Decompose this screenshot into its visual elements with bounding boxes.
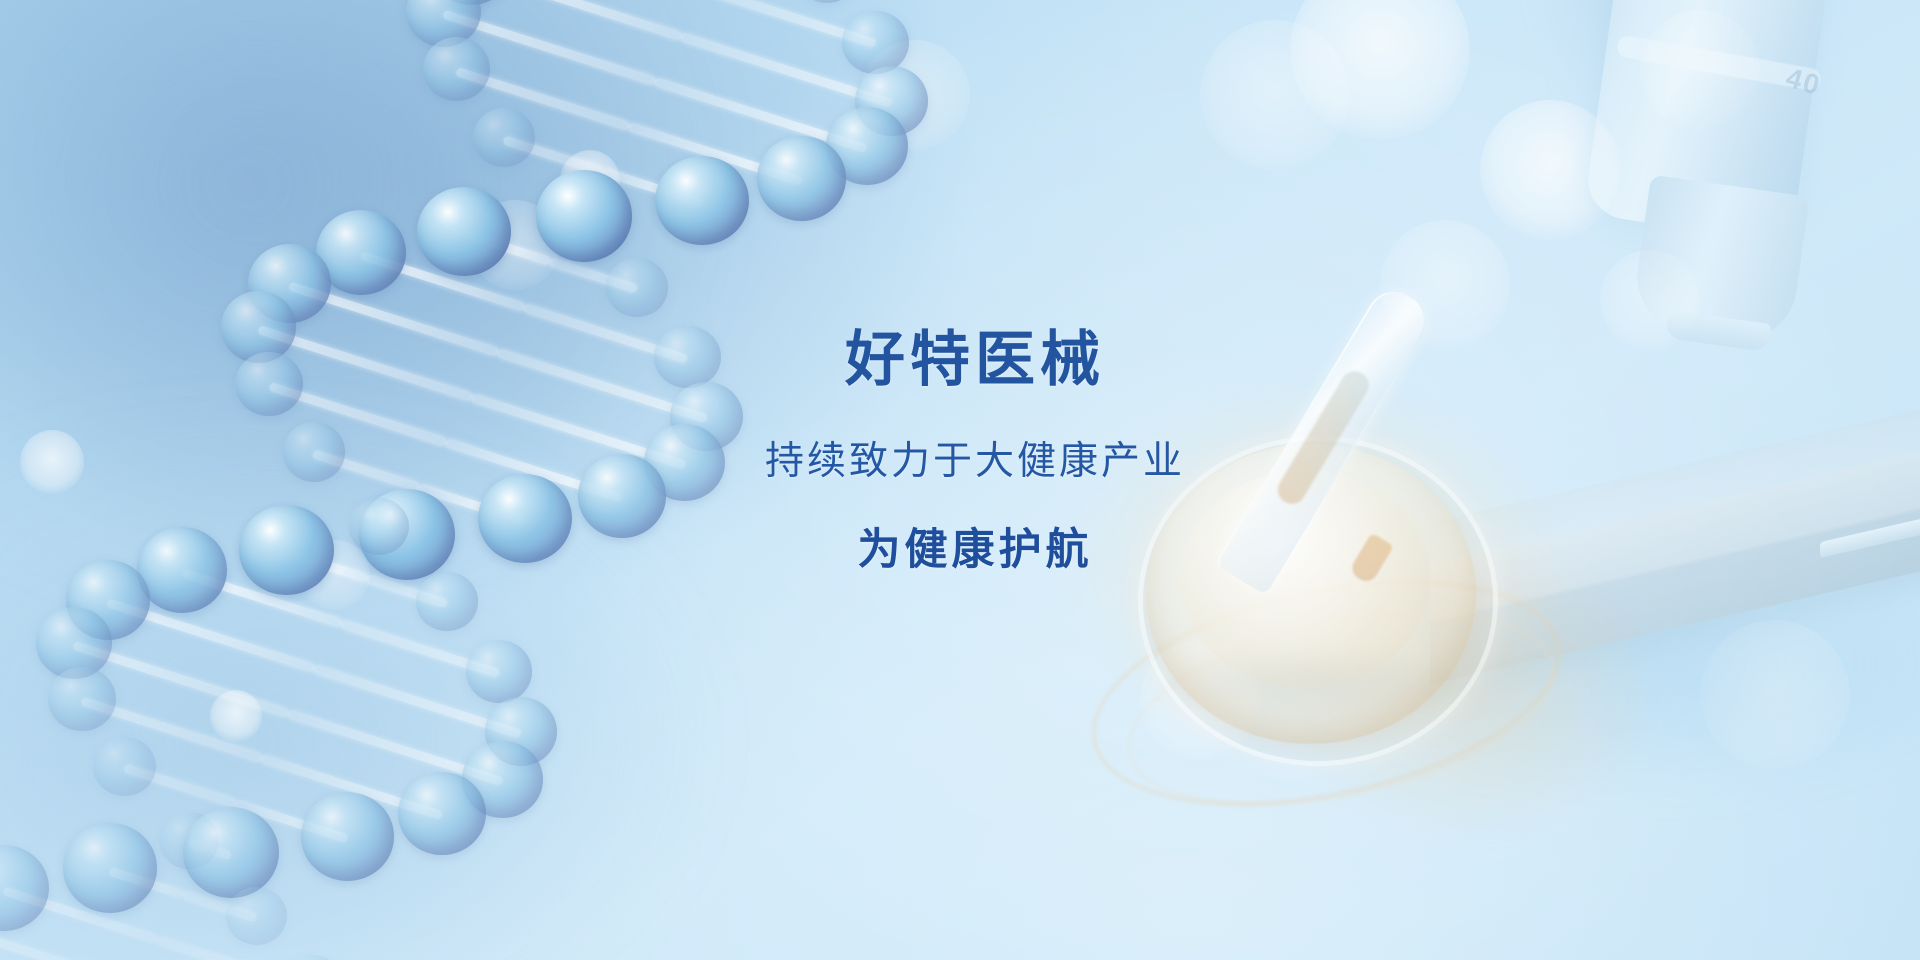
page-title: 好特医械 — [645, 330, 1305, 390]
dna-bead — [473, 108, 535, 167]
hero-copy: 好特医械 持续致力于大健康产业 为健康护航 — [645, 330, 1305, 572]
dna-bead — [757, 136, 846, 220]
dna-bead — [48, 667, 116, 732]
dna-bead — [137, 527, 227, 613]
hero-banner: 40 好特医械 持续致力于大健康产业 为健康护航 — [0, 0, 1920, 960]
dna-bead — [478, 474, 572, 563]
dna-bead — [235, 352, 303, 416]
dna-bead — [283, 422, 345, 481]
dna-bead — [301, 792, 394, 881]
dna-bead — [63, 823, 158, 913]
hero-subtitle: 持续致力于大健康产业 — [645, 442, 1305, 481]
dna-bead — [606, 258, 668, 316]
dna-bead — [93, 737, 156, 796]
dna-bead — [417, 187, 511, 277]
dna-bead — [423, 37, 490, 101]
dna-bead — [226, 887, 287, 945]
dna-bead — [221, 291, 296, 362]
dna-bead — [466, 640, 532, 702]
dna-bead — [349, 498, 409, 555]
dna-bead — [796, 0, 858, 3]
dna-bead — [239, 505, 334, 595]
dna-bead — [278, 955, 343, 960]
dna-bead — [398, 772, 486, 856]
dna-bead — [536, 170, 632, 261]
hero-tagline: 为健康护航 — [645, 529, 1305, 572]
dna-bead — [416, 572, 477, 630]
dna-bead — [655, 156, 749, 245]
dna-bead — [842, 11, 909, 74]
dna-bead — [0, 845, 49, 931]
dna-bead — [183, 807, 279, 898]
